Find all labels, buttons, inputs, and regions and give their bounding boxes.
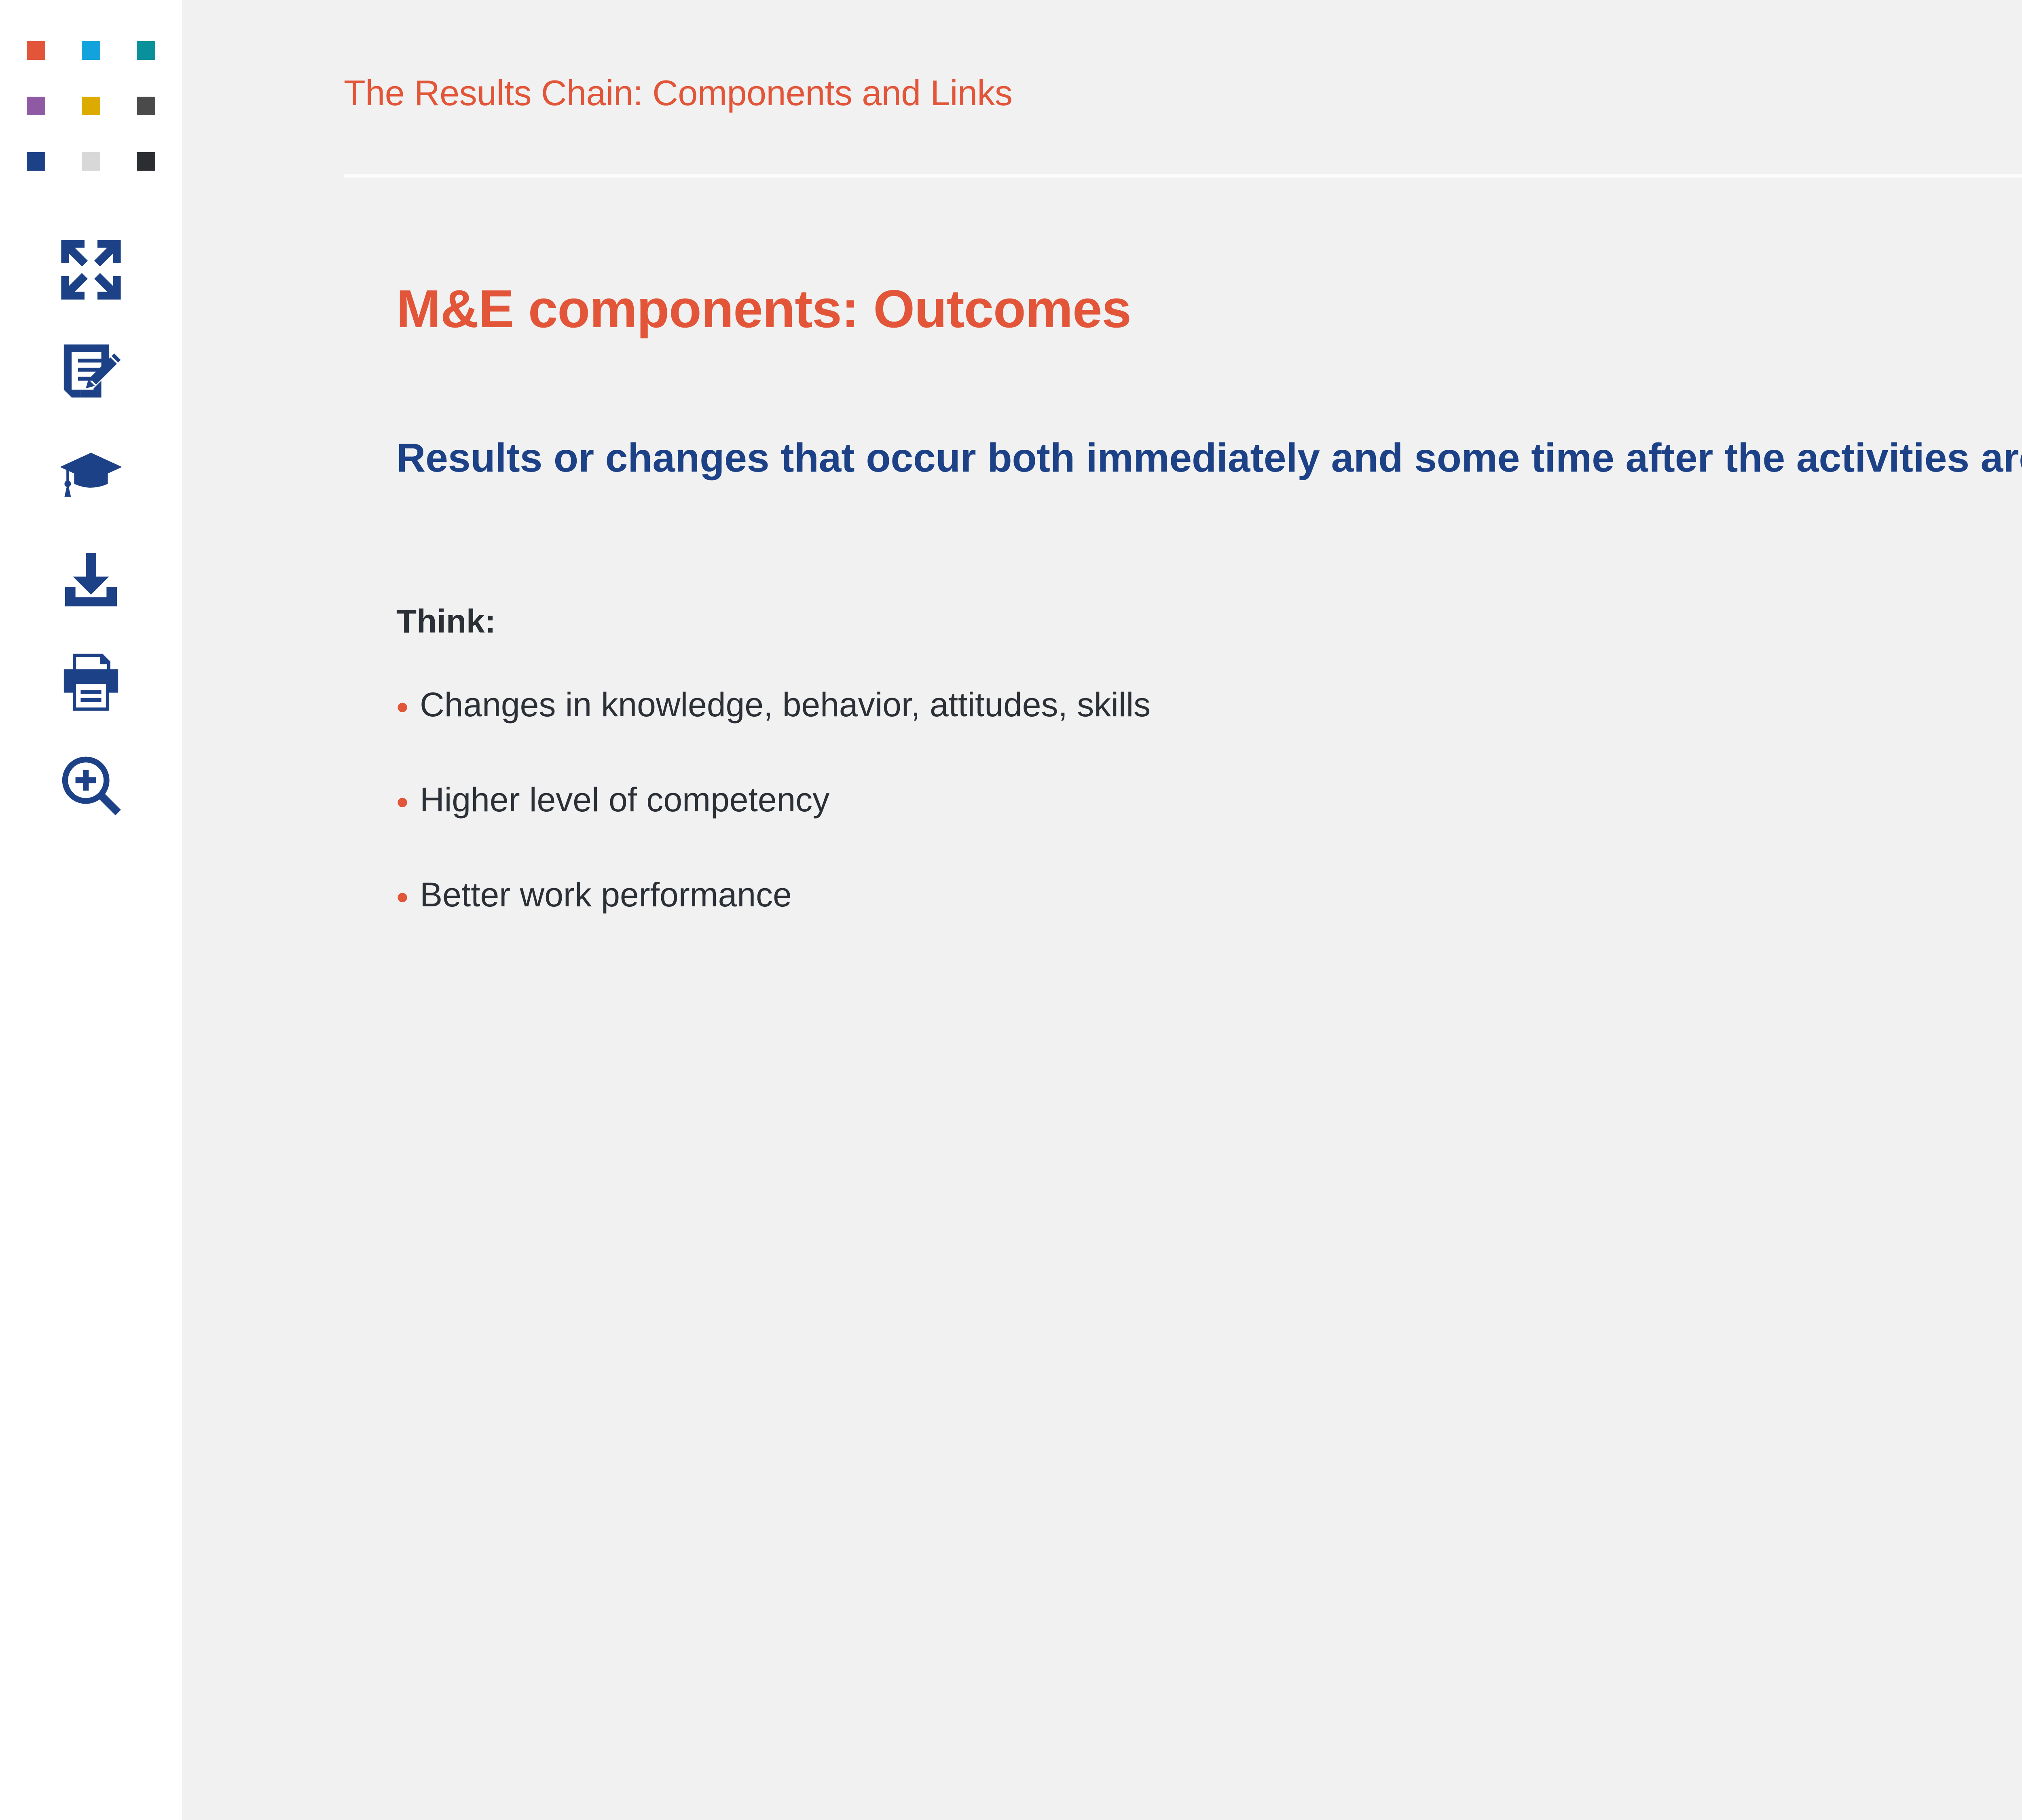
swatch-light-blue[interactable] (82, 41, 100, 60)
slide-stage: The Results Chain: Components and Links … (182, 0, 2022, 1796)
notes-edit-icon (59, 341, 123, 405)
list-item: • Better work performance (396, 878, 2022, 973)
slide-header: The Results Chain: Components and Links … (344, 71, 2022, 115)
course-button[interactable] (51, 436, 131, 516)
bullet-marker-icon: • (396, 690, 408, 725)
notes-button[interactable] (51, 332, 131, 413)
swatch-dark-gray[interactable] (137, 97, 155, 115)
list-item: • Changes in knowledge, behavior, attitu… (396, 688, 2022, 783)
swatch-navy[interactable] (27, 152, 45, 171)
deck-title: The Results Chain: Components and Links (344, 72, 1012, 114)
swatch-purple[interactable] (27, 97, 45, 115)
swatch-orange[interactable] (27, 41, 45, 60)
zoom-in-icon (59, 753, 123, 818)
bullet-marker-icon: • (396, 785, 408, 820)
bullet-marker-icon: • (396, 880, 408, 915)
page-title: M&E components: Outcomes (396, 278, 1131, 339)
swatch-gold[interactable] (82, 97, 100, 115)
swatch-black[interactable] (137, 152, 155, 171)
think-label: Think: (396, 603, 496, 641)
printer-icon (59, 650, 123, 715)
list-item-label: Changes in knowledge, behavior, attitude… (420, 688, 1151, 722)
color-swatch-grid (27, 41, 155, 171)
swatch-teal[interactable] (137, 41, 155, 60)
list-item: • Higher level of competency (396, 783, 2022, 878)
list-item-label: Better work performance (420, 878, 792, 912)
stage-bottom-strip (364, 1771, 2022, 1796)
swatch-light-gray[interactable] (82, 152, 100, 171)
bullet-list: • Changes in knowledge, behavior, attitu… (396, 688, 2022, 973)
fullscreen-icon (59, 237, 123, 302)
print-button[interactable] (51, 642, 131, 723)
slide-subtitle: Results or changes that occur both immed… (396, 432, 2022, 484)
graduation-cap-icon (59, 444, 123, 508)
zoom-in-button[interactable] (51, 745, 131, 826)
download-button[interactable] (51, 539, 131, 620)
list-item-label: Higher level of competency (420, 783, 829, 817)
left-toolbar (0, 0, 182, 1820)
header-divider (344, 174, 2022, 178)
download-icon (59, 547, 123, 612)
fullscreen-button[interactable] (51, 229, 131, 310)
